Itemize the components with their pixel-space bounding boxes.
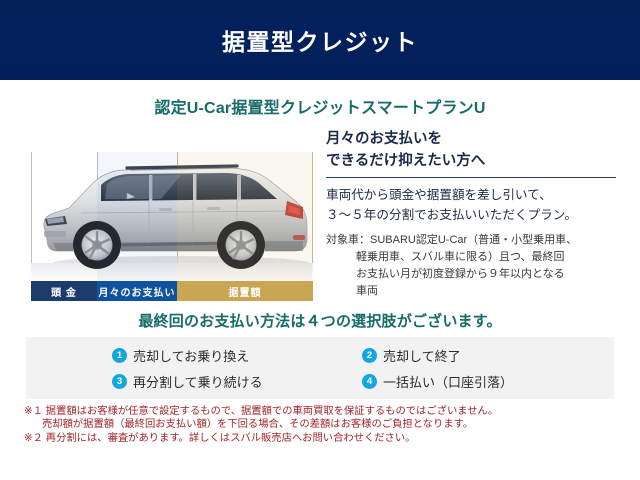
segment-bar-residual: 据置額 [177,281,313,301]
description-divider [326,177,616,178]
page-title: 据置型クレジット [0,0,640,80]
segment-bar-monthly: 月々のお支払い [97,281,177,301]
options-heading: 最終回のお支払い方法は４つの選択肢がございます。 [0,310,640,331]
option-item-2: 2 売却して終了 [362,342,592,368]
description-heading-line2: できるだけ抑えたい方へ [326,150,620,172]
suv-side-view-icon [31,135,313,281]
car-image [31,135,313,281]
description-body-line2: ３〜５年の分割でお支払いいただくプラン。 [326,205,620,225]
plan-subtitle: 認定U-Car据置型クレジットスマートプランU [0,94,640,118]
promo-page: 据置型クレジット 認定U-Car据置型クレジットスマートプランU [0,0,640,480]
option-item-4: 4 一括払い（口座引落） [362,368,592,394]
options-grid: 1 売却してお乗り換え 2 売却して終了 3 再分割して乗り続ける 4 一括払い… [112,342,592,394]
option-label-2: 売却して終了 [383,346,461,365]
footnotes: ※１ 据置額はお客様が任意で設定するもので、据置額での車両買取を保証するものでは… [24,405,624,446]
option-badge-3: 3 [112,374,127,389]
description-body: 車両代から頭金や据置額を差し引いて、 ３〜５年の分割でお支払いいただくプラン。 [326,185,620,225]
footnote-line-2: 売却額が据置額（最終回お支払い額）を下回る場合、その差額はお客様のご負担となりま… [24,418,624,431]
description-heading-line1: 月々のお支払いを [326,128,620,150]
car-diagram: 頭 金 月々のお支払い 据置額 [31,135,313,301]
description-body-line1: 車両代から頭金や据置額を差し引いて、 [326,185,620,205]
eligible-vehicle-note-line3: お支払い月が初度登録から９年以内となる [326,266,620,283]
segment-bar-row: 頭 金 月々のお支払い 据置額 [31,281,313,301]
option-badge-4: 4 [362,374,377,389]
option-label-3: 再分割して乗り続ける [133,372,263,391]
description-column: 月々のお支払いを できるだけ抑えたい方へ 車両代から頭金や据置額を差し引いて、 … [326,128,620,300]
option-badge-1: 1 [112,348,127,363]
options-panel: 1 売却してお乗り換え 2 売却して終了 3 再分割して乗り続ける 4 一括払い… [26,337,614,399]
footnote-line-3: ※２ 再分割には、審査があります。詳しくはスバル販売店へお問い合わせください。 [24,432,624,445]
option-item-3: 3 再分割して乗り続ける [112,368,342,394]
eligible-vehicle-note-line4: 車両 [326,283,620,300]
eligible-vehicle-note: 対象車：SUBARU認定U-Car（普通・小型乗用車、 軽乗用車、スバル車に限る… [326,232,620,300]
option-label-1: 売却してお乗り換え [133,346,249,365]
eligible-vehicle-note-line2: 軽乗用車、スバル車に限る）且つ、最終回 [326,249,620,266]
option-label-4: 一括払い（口座引落） [383,372,513,391]
footnote-line-1: ※１ 据置額はお客様が任意で設定するもので、据置額での車両買取を保証するものでは… [24,405,624,418]
eligible-vehicle-note-line1: 対象車：SUBARU認定U-Car（普通・小型乗用車、 [326,232,620,249]
option-badge-2: 2 [362,348,377,363]
segment-bar-downpayment: 頭 金 [31,281,97,301]
option-item-1: 1 売却してお乗り換え [112,342,342,368]
